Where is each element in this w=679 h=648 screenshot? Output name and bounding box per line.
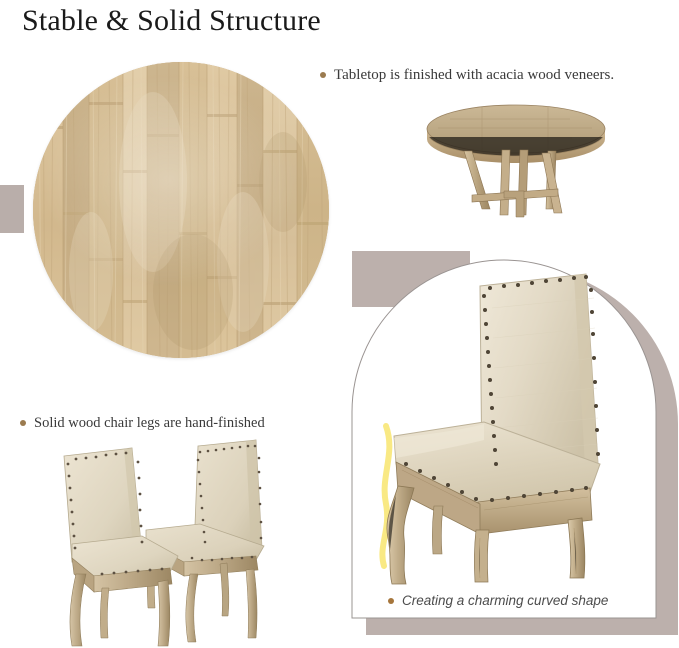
curve-highlight [382,426,389,566]
decorative-accent-block-left [0,185,24,233]
bullet-tabletop: Tabletop is finished with acacia wood ve… [320,66,614,84]
figure-dining-table [420,95,612,227]
bullet-dot-icon [320,72,326,78]
bullet-chair-legs-label: Solid wood chair legs are hand-finished [34,414,265,432]
bullet-curved-shape-label: Creating a charming curved shape [402,592,608,610]
bullet-chair-legs: Solid wood chair legs are hand-finished [20,414,265,432]
page-title: Stable & Solid Structure [22,1,321,41]
product-feature-panel: Stable & Solid Structure [0,0,679,648]
bullet-curved-shape: Creating a charming curved shape [388,592,608,610]
chair-left [64,448,178,646]
figure-main-chair [372,268,612,586]
bullet-dot-icon [20,420,26,426]
tabletop-sheen [33,62,329,358]
bullet-dot-icon [388,598,394,604]
figure-tabletop-closeup [33,62,329,358]
bullet-tabletop-label: Tabletop is finished with acacia wood ve… [334,66,614,84]
figure-chair-pair [50,432,294,648]
